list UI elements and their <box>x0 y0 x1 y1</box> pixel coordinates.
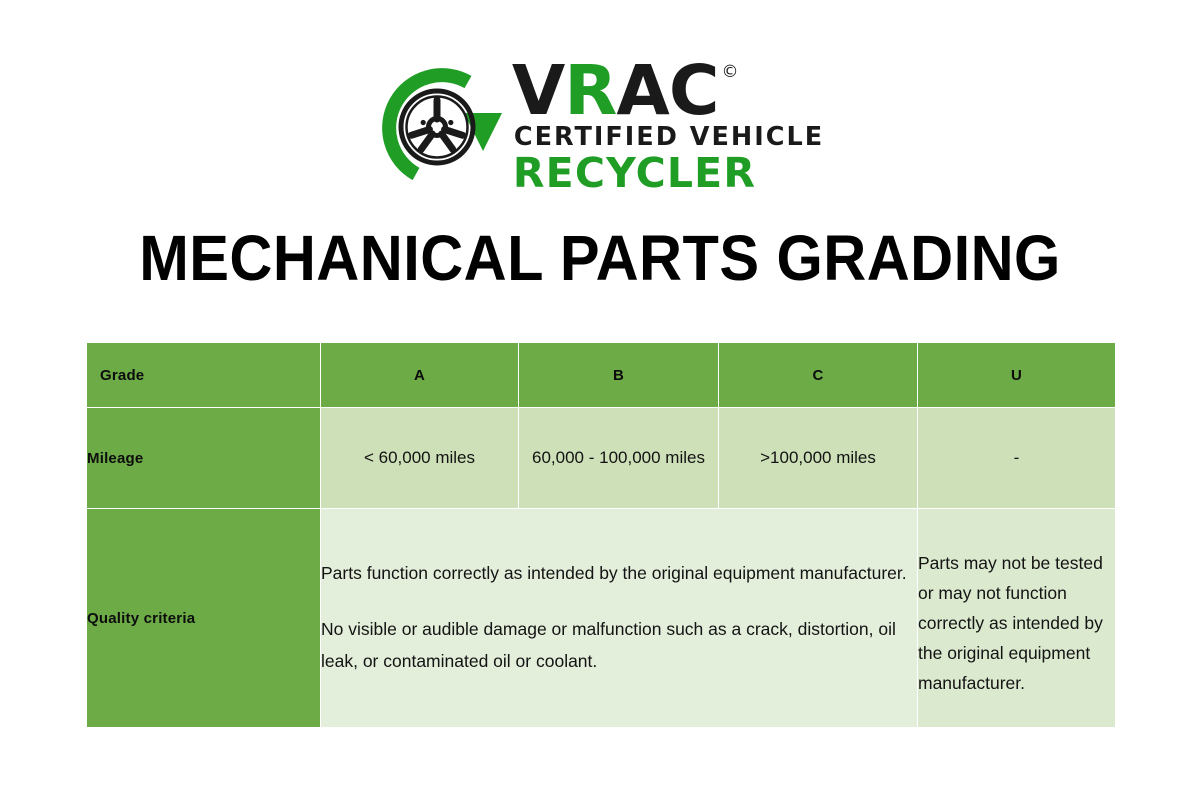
brand-letters-ac: AC <box>616 60 718 123</box>
table-row-mileage: Mileage < 60,000 miles 60,000 - 100,000 … <box>87 408 1116 509</box>
mechanical-parts-grading-table: Grade A B C U Mileage < 60,000 miles 60,… <box>86 342 1116 728</box>
row-label-mileage: Mileage <box>87 408 321 509</box>
table-header-row: Grade A B C U <box>87 343 1116 408</box>
quality-criteria-u-text: Parts may not be tested or may not funct… <box>918 538 1115 698</box>
copyright-icon: © <box>721 64 737 81</box>
logo-tagline-recycler: RECYCLER <box>513 153 756 194</box>
cell-quality-criteria-abc: Parts function correctly as intended by … <box>321 509 918 728</box>
header-cell-grade-a: A <box>321 343 519 408</box>
page-title: MECHANICAL PARTS GRADING <box>42 221 1158 295</box>
brand-letter-v: V <box>512 60 564 123</box>
quality-criteria-paragraph-1: Parts function correctly as intended by … <box>321 558 917 590</box>
header-cell-grade-c: C <box>719 343 918 408</box>
cell-mileage-u: - <box>918 408 1116 509</box>
vrac-logo: VRAC© CERTIFIED VEHICLE RECYCLER <box>0 52 1200 202</box>
header-cell-grade: Grade <box>87 343 321 408</box>
table-row-quality-criteria: Quality criteria Parts function correctl… <box>87 509 1116 728</box>
logo-inner: VRAC© CERTIFIED VEHICLE RECYCLER <box>376 60 824 195</box>
cell-mileage-a: < 60,000 miles <box>321 408 519 509</box>
cell-mileage-c: >100,000 miles <box>719 408 918 509</box>
logo-tagline-certified-vehicle: CERTIFIED VEHICLE <box>514 125 824 151</box>
logo-wordmark: VRAC© CERTIFIED VEHICLE RECYCLER <box>512 60 824 195</box>
quality-criteria-paragraph-2: No visible or audible damage or malfunct… <box>321 614 917 678</box>
recycling-wheel-icon <box>376 61 508 193</box>
cell-quality-criteria-u: Parts may not be tested or may not funct… <box>918 509 1116 728</box>
brand-name-vrac: VRAC© <box>512 60 738 123</box>
header-cell-grade-u: U <box>918 343 1116 408</box>
cell-mileage-b: 60,000 - 100,000 miles <box>519 408 719 509</box>
brand-letter-r: R <box>564 60 616 123</box>
row-label-quality-criteria: Quality criteria <box>87 509 321 728</box>
header-cell-grade-b: B <box>519 343 719 408</box>
